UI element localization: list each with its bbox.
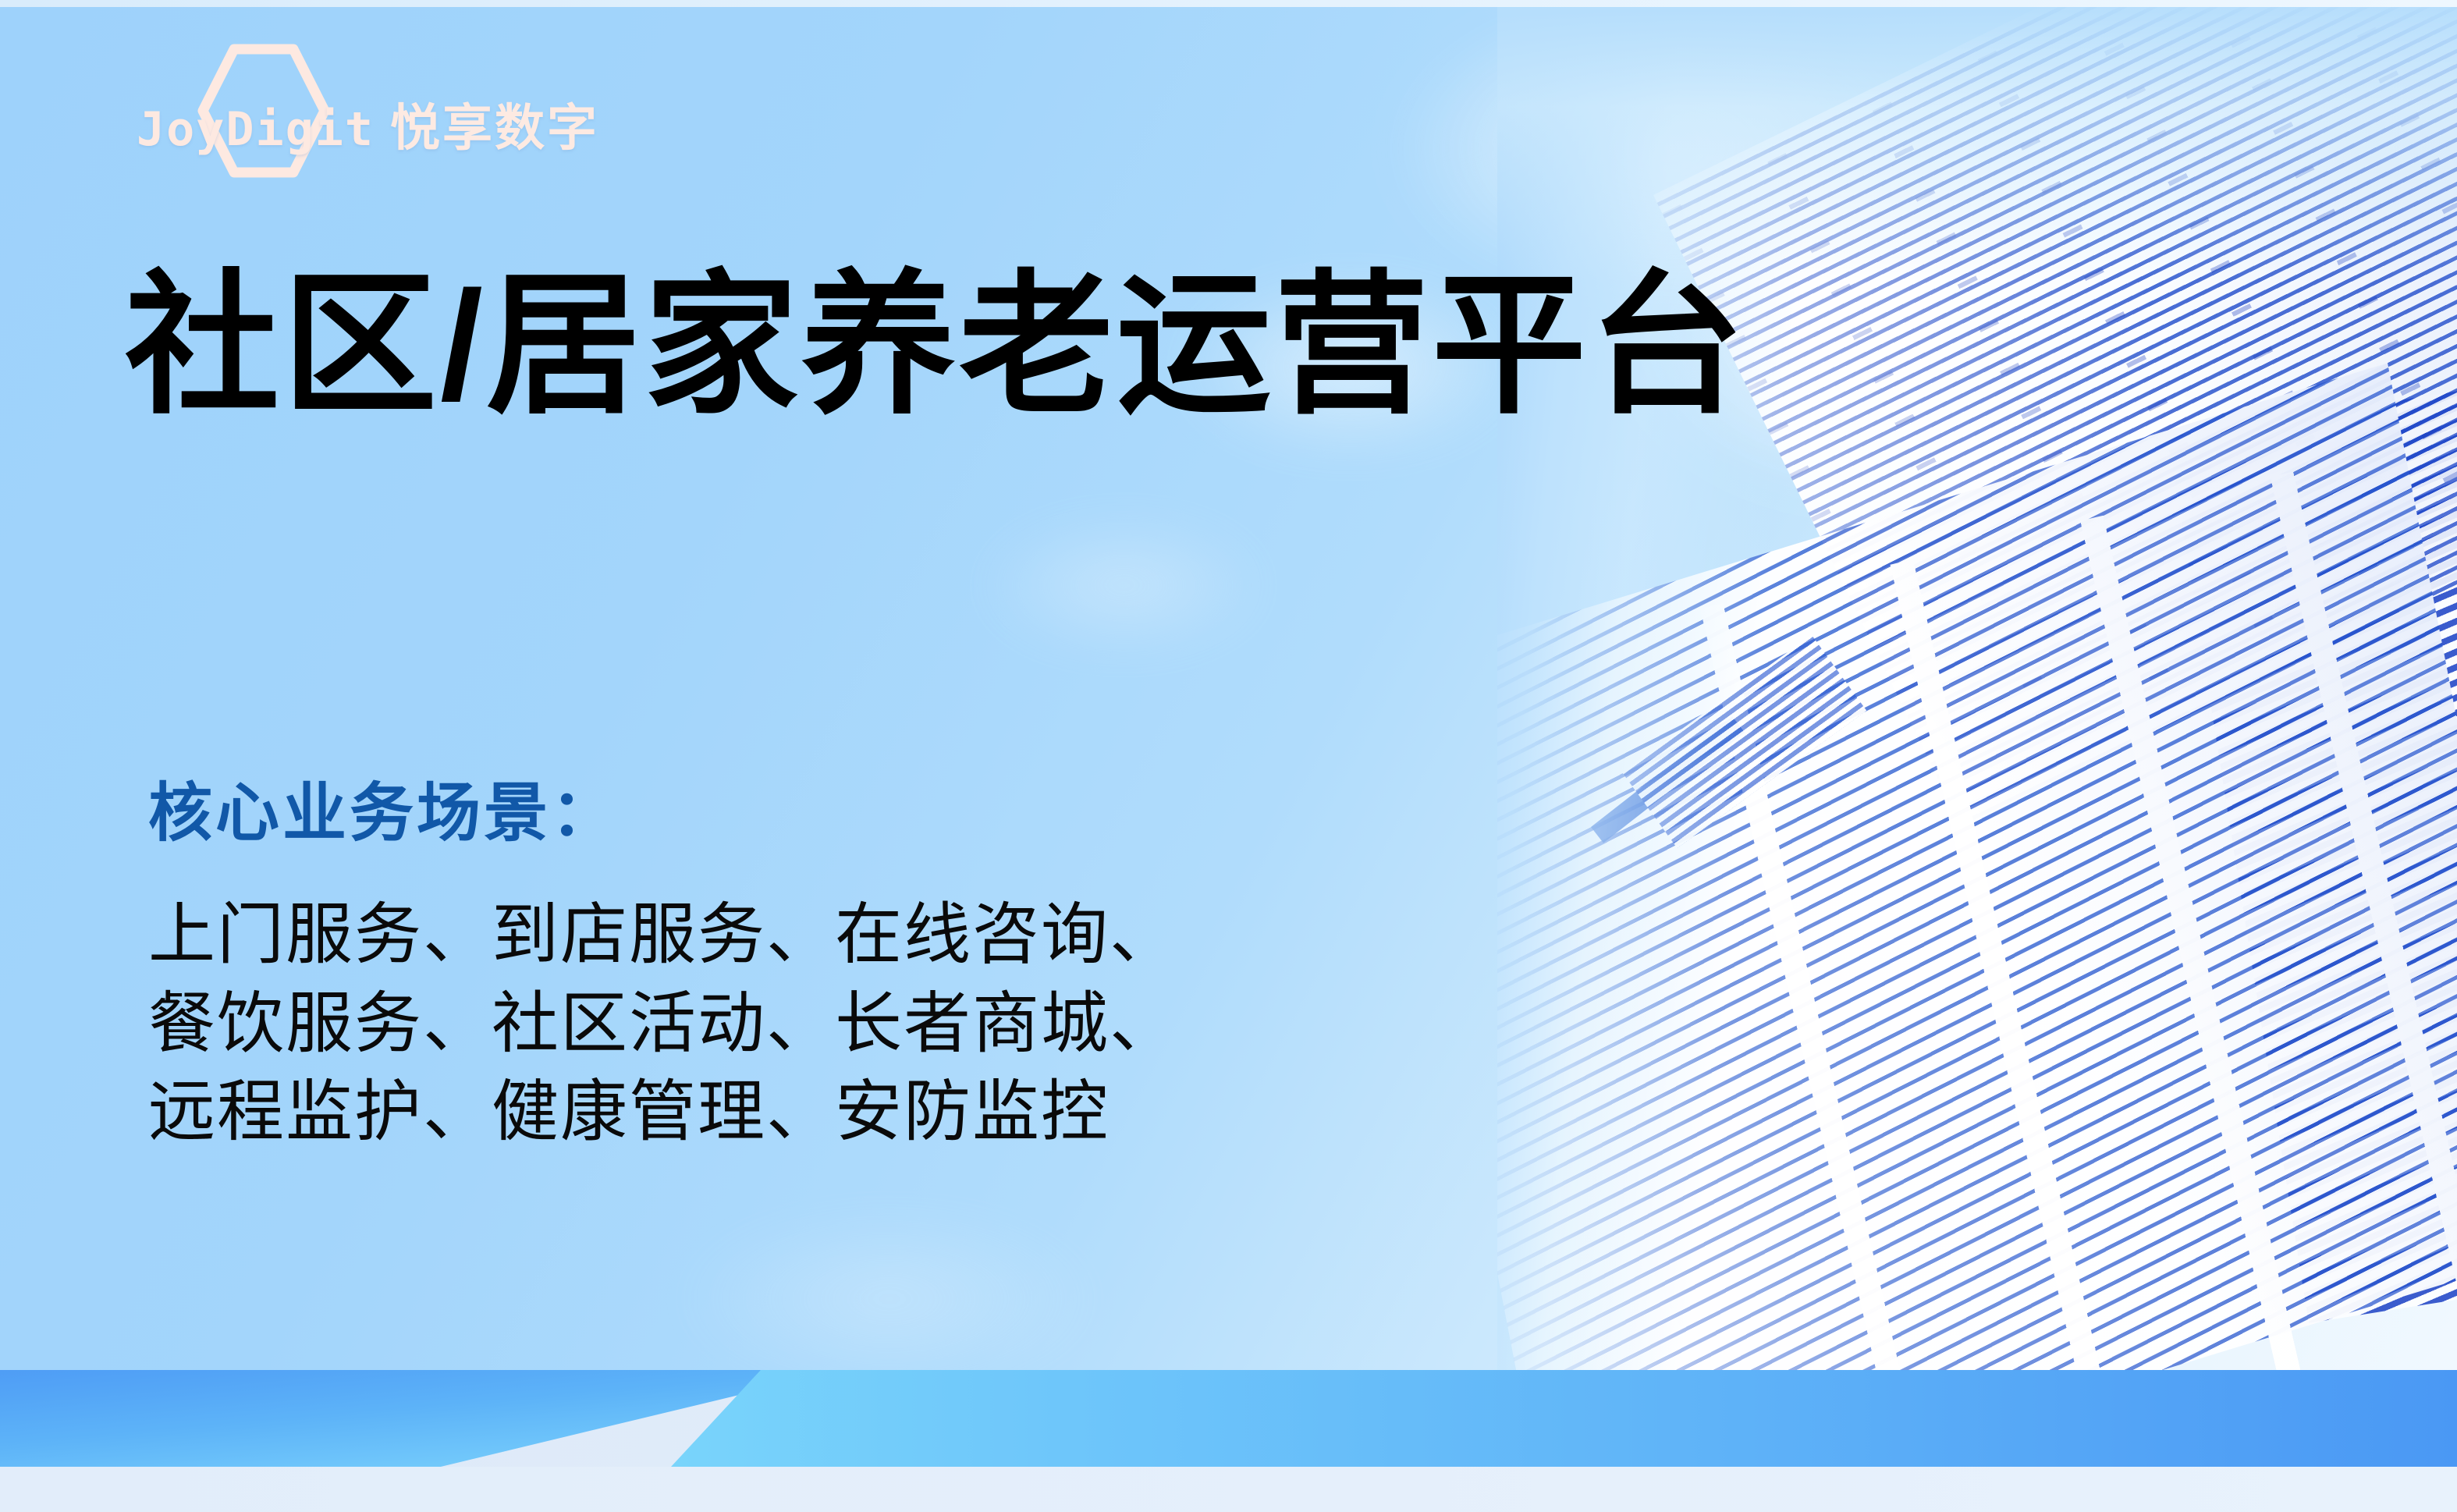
logo-text-en: JoyDigit [137, 102, 375, 157]
logo-text-cn: 悦享数字 [390, 88, 599, 160]
scenario-line: 远程监护、健康管理、安防监控 [148, 1068, 1178, 1157]
footer-bottom-strip [0, 1467, 2457, 1512]
section-heading: 核心业务场景： [148, 761, 1178, 854]
brand-logo[interactable]: JoyDigit 悦享数字 [137, 39, 599, 164]
photo-top-fade [1497, 0, 2457, 281]
slide-canvas: JoyDigit 悦享数字 社区/居家养老运营平台 核心业务场景： 上门服务、到… [0, 0, 2457, 1512]
scenario-list: 上门服务、到店服务、在线咨询、 餐饮服务、社区活动、长者商城、 远程监护、健康管… [148, 891, 1178, 1157]
page-title: 社区/居家养老运营平台 [125, 259, 1747, 432]
scenario-line: 上门服务、到店服务、在线咨询、 [148, 891, 1178, 980]
footer-ribbon [0, 1342, 2457, 1512]
footer-band-right [671, 1370, 2457, 1467]
logo-wordmark: JoyDigit 悦享数字 [137, 88, 599, 160]
scenario-line: 餐饮服务、社区活动、长者商城、 [148, 980, 1178, 1069]
top-edge-strip [0, 0, 2457, 7]
skyscraper-photo [1497, 0, 2457, 1404]
content-block: 核心业务场景： 上门服务、到店服务、在线咨询、 餐饮服务、社区活动、长者商城、 … [148, 761, 1178, 1157]
